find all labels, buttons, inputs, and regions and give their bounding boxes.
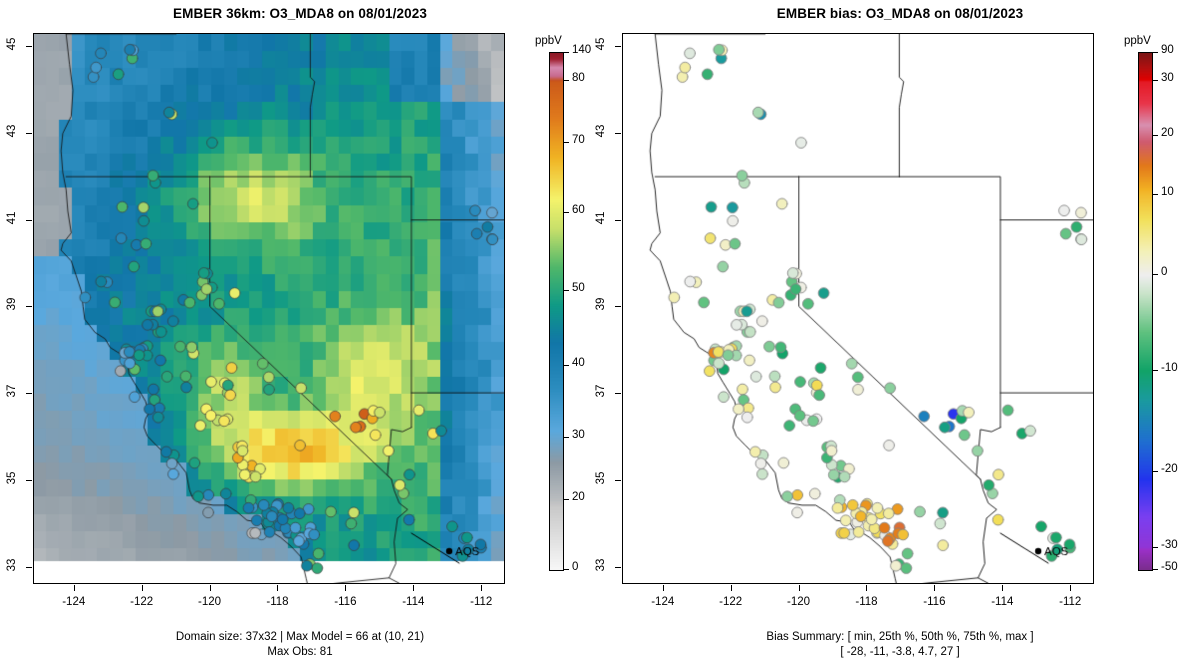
colorbar-tick-label: 30 <box>1161 72 1174 84</box>
colorbar-tick <box>1152 80 1158 81</box>
y-axis-tick <box>26 133 32 134</box>
model-map-canvas <box>34 34 504 583</box>
x-axis-label: -122 <box>706 596 756 608</box>
y-axis-tick <box>26 567 32 568</box>
colorbar-tick-label: 10 <box>1161 186 1174 198</box>
colorbar-tick-label: 80 <box>572 72 585 84</box>
y-axis-label: 35 <box>6 466 18 490</box>
y-axis-label: 39 <box>595 292 607 316</box>
x-axis-label: -112 <box>456 596 506 608</box>
x-axis-tick <box>481 585 482 591</box>
colorbar-tick <box>563 142 569 143</box>
colorbar-tick-label: 50 <box>572 282 585 294</box>
colorbar-tick <box>1152 52 1158 53</box>
y-axis-tick <box>26 306 32 307</box>
x-axis-label: -114 <box>977 596 1027 608</box>
y-axis-tick <box>26 220 32 221</box>
x-axis-tick <box>277 585 278 591</box>
y-axis-label: 33 <box>6 553 18 577</box>
x-axis-label: -112 <box>1045 596 1095 608</box>
colorbar-tick <box>563 212 569 213</box>
x-axis-label: -122 <box>117 596 167 608</box>
y-axis-tick <box>615 46 621 47</box>
colorbar-tick-label: -30 <box>1161 539 1178 551</box>
colorbar-tick <box>1152 471 1158 472</box>
y-axis-tick <box>615 393 621 394</box>
caption-bias-line1: Bias Summary: [ min, 25th %, 50th %, 75t… <box>600 630 1200 644</box>
x-axis-label: -124 <box>638 596 688 608</box>
colorbar-unit-label: ppbV <box>535 35 562 47</box>
panel-bias: EMBER bias: O3_MDA8 on 08/01/2023 333537… <box>600 0 1200 672</box>
panel-title-model: EMBER 36km: O3_MDA8 on 08/01/2023 <box>0 6 600 21</box>
colorbar-tick-label: 70 <box>572 134 585 146</box>
colorbar-tick <box>563 80 569 81</box>
x-axis-label: -120 <box>774 596 824 608</box>
x-axis-label: -114 <box>388 596 438 608</box>
y-axis-label: 41 <box>595 206 607 230</box>
colorbar-tick <box>563 365 569 366</box>
colorbar-tick <box>1152 194 1158 195</box>
y-axis-tick <box>26 46 32 47</box>
colorbar-tick <box>1152 274 1158 275</box>
x-axis-label: -120 <box>185 596 235 608</box>
colorbar-tick-label: 140 <box>572 44 591 56</box>
colorbar-tick <box>1152 370 1158 371</box>
colorbar-unit-label: ppbV <box>1124 35 1151 47</box>
y-axis-tick <box>615 133 621 134</box>
x-axis-tick <box>413 585 414 591</box>
colorbar-tick-label: -10 <box>1161 362 1178 374</box>
colorbar-tick <box>563 52 569 53</box>
y-axis-label: 33 <box>595 553 607 577</box>
x-axis-tick <box>74 585 75 591</box>
colorbar-gradient <box>1138 52 1153 571</box>
x-axis-tick <box>663 585 664 591</box>
map-plot-bias[interactable] <box>622 33 1094 584</box>
x-axis-tick <box>1070 585 1071 591</box>
colorbar-tick <box>1152 569 1158 570</box>
y-axis-tick <box>26 393 32 394</box>
y-axis-label: 37 <box>595 379 607 403</box>
x-axis-label: -116 <box>320 596 370 608</box>
caption-model-line1: Domain size: 37x32 | Max Model = 66 at (… <box>0 630 600 644</box>
y-axis-label: 43 <box>6 119 18 143</box>
y-axis-label: 43 <box>595 119 607 143</box>
x-axis-label: -116 <box>909 596 959 608</box>
colorbar-tick-label: 20 <box>1161 127 1174 139</box>
caption-model-line2: Max Obs: 81 <box>0 645 600 659</box>
bias-map-canvas <box>623 34 1093 583</box>
caption-bias-line2: [ -28, -11, -3.8, 4.7, 27 ] <box>600 645 1200 659</box>
y-axis-label: 35 <box>595 466 607 490</box>
colorbar-tick <box>1152 547 1158 548</box>
y-axis-label: 45 <box>595 32 607 56</box>
panel-title-bias: EMBER bias: O3_MDA8 on 08/01/2023 <box>600 6 1200 21</box>
x-axis-tick <box>142 585 143 591</box>
colorbar-tick <box>563 290 569 291</box>
x-axis-tick <box>866 585 867 591</box>
y-axis-label: 45 <box>6 32 18 56</box>
y-axis-tick <box>615 567 621 568</box>
colorbar-tick-label: 60 <box>572 204 585 216</box>
x-axis-label: -118 <box>252 596 302 608</box>
colorbar-tick <box>563 499 569 500</box>
colorbar-tick-label: -20 <box>1161 463 1178 475</box>
y-axis-label: 41 <box>6 206 18 230</box>
colorbar-tick <box>1152 135 1158 136</box>
colorbar-tick-label: 90 <box>1161 44 1174 56</box>
y-axis-tick <box>615 220 621 221</box>
x-axis-tick <box>731 585 732 591</box>
x-axis-tick <box>799 585 800 591</box>
x-axis-tick <box>345 585 346 591</box>
colorbar-tick-label: 30 <box>572 429 585 441</box>
x-axis-tick <box>934 585 935 591</box>
colorbar-tick-label: 0 <box>572 561 578 573</box>
colorbar-gradient <box>549 52 564 571</box>
colorbar-tick-label: 0 <box>1161 266 1167 278</box>
y-axis-tick <box>615 306 621 307</box>
x-axis-label: -118 <box>841 596 891 608</box>
colorbar-tick <box>563 437 569 438</box>
y-axis-tick <box>26 480 32 481</box>
x-axis-label: -124 <box>49 596 99 608</box>
y-axis-label: 37 <box>6 379 18 403</box>
colorbar-tick-label: 20 <box>572 491 585 503</box>
x-axis-tick <box>210 585 211 591</box>
colorbar-tick-label: 40 <box>572 357 585 369</box>
panel-model: EMBER 36km: O3_MDA8 on 08/01/2023 333537… <box>0 0 600 672</box>
map-plot-model[interactable] <box>33 33 505 584</box>
colorbar-tick <box>563 569 569 570</box>
figure-root: EMBER 36km: O3_MDA8 on 08/01/2023 333537… <box>0 0 1200 672</box>
y-axis-label: 39 <box>6 292 18 316</box>
colorbar-tick-label: -50 <box>1161 561 1178 573</box>
y-axis-tick <box>615 480 621 481</box>
x-axis-tick <box>1002 585 1003 591</box>
